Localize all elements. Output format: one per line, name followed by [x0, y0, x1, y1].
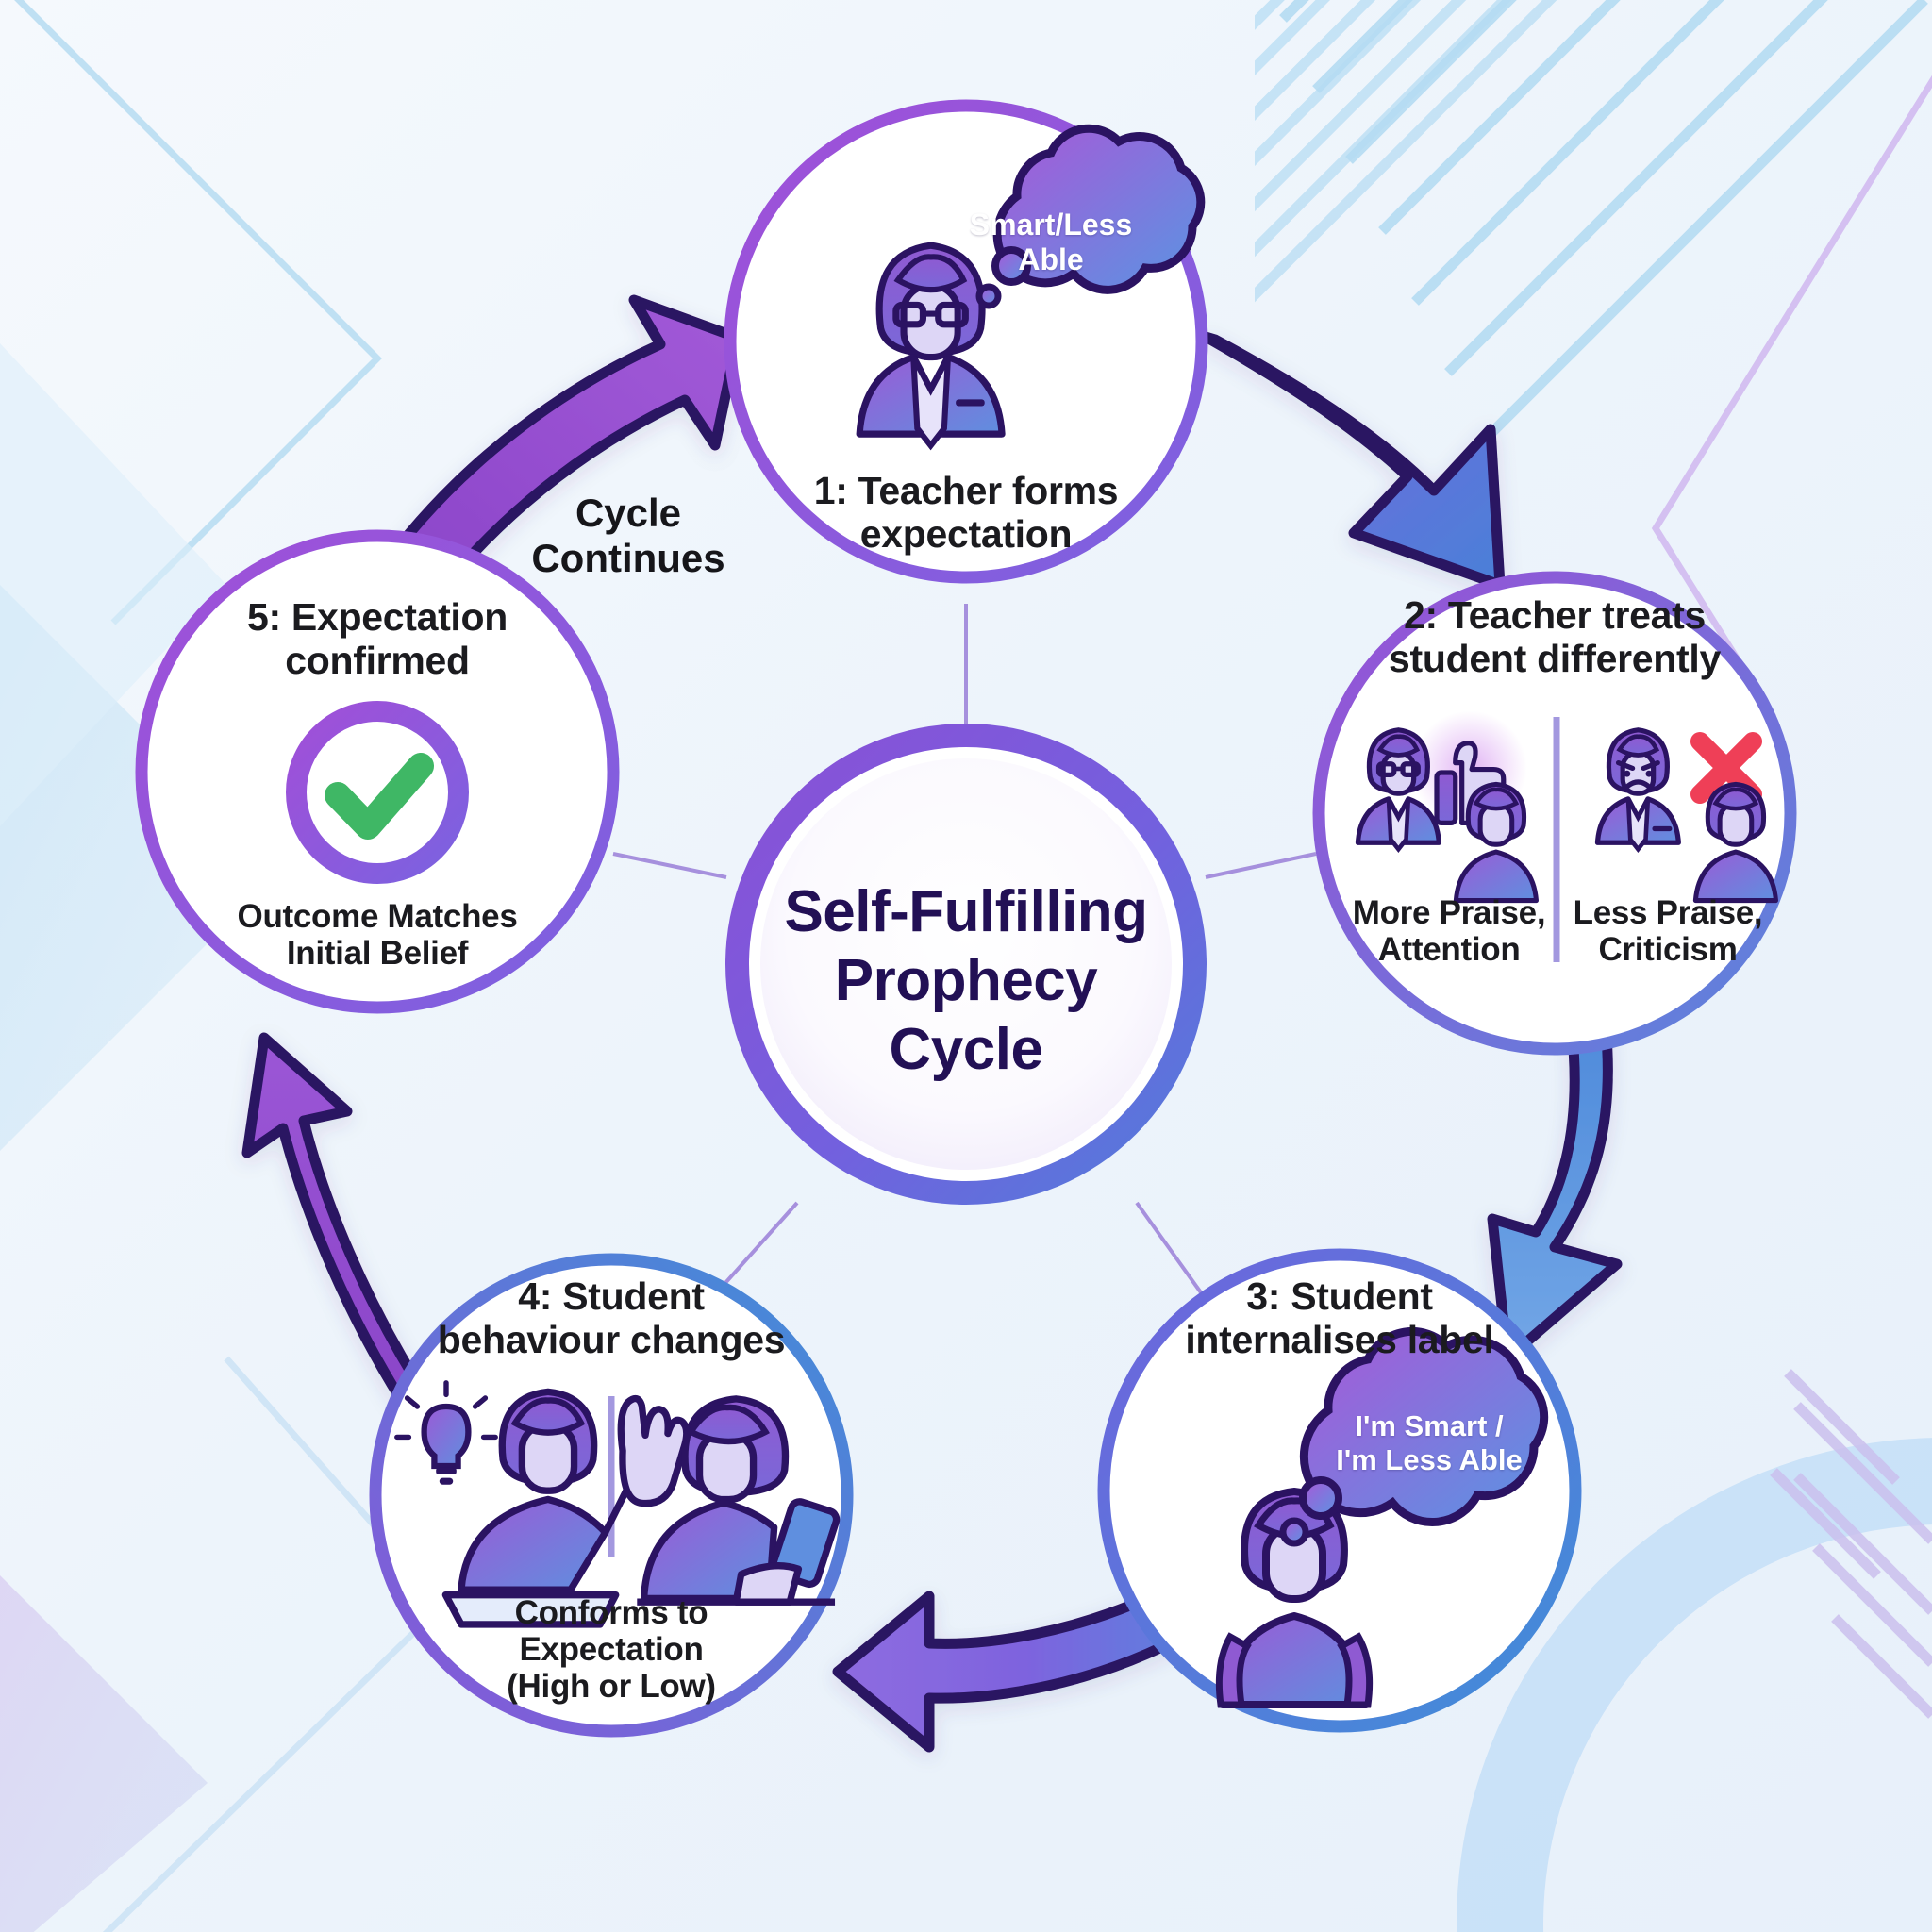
arrow-1-to-2	[1206, 337, 1500, 585]
arrow-3-to-4	[838, 1592, 1177, 1747]
node-2-title: 2: Teacher treats student differently	[1328, 594, 1781, 681]
node-2-subtitle-left: More Praise, Attention	[1347, 894, 1551, 968]
infographic-canvas: Self-Fulfilling Prophecy Cycle Cycle Con…	[0, 0, 1932, 1932]
node-5-subtitle: Outcome Matches Initial Belief	[189, 898, 566, 972]
node-3-title: 3: Student internalises label	[1113, 1275, 1566, 1362]
node-1-bubble-text: Smart/Less Able	[951, 208, 1151, 277]
node-4-subtitle: Conforms to Expectation (High or Low)	[423, 1594, 800, 1706]
node-5-title: 5: Expectation confirmed	[160, 596, 594, 683]
node-2-subtitle-right: Less Praise, Criticism	[1566, 894, 1770, 968]
center-title: Self-Fulfilling Prophecy Cycle	[683, 877, 1249, 1084]
cycle-continues-label: Cycle Continues	[487, 491, 770, 582]
node-4-title: 4: Student behaviour changes	[385, 1275, 838, 1362]
node-1-title: 1: Teacher forms expectation	[740, 470, 1192, 557]
node-3-bubble-text: I'm Smart / I'm Less Able	[1319, 1409, 1540, 1477]
